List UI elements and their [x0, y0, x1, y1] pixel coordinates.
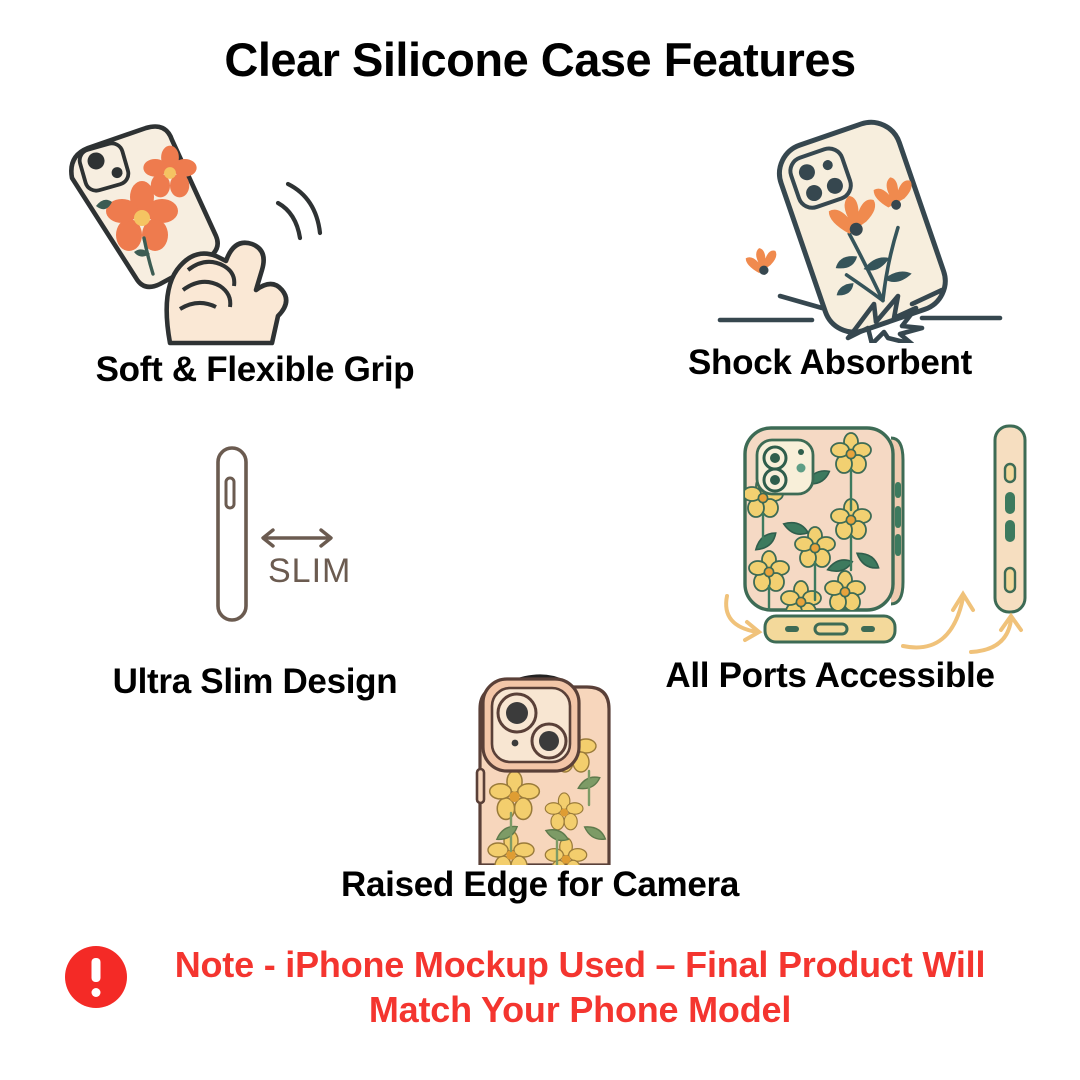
feature-label: Shock Absorbent — [600, 343, 1060, 383]
feature-shock-absorbent: Shock Absorbent — [600, 118, 1060, 408]
side-button-cutouts — [895, 482, 901, 556]
power-button-cutout — [1005, 568, 1015, 592]
page-title: Clear Silicone Case Features — [0, 34, 1080, 86]
volume-down-cutout — [1005, 520, 1015, 542]
raised-camera-edge-illustration — [305, 665, 775, 865]
width-arrow-icon — [263, 530, 331, 546]
feature-soft-flexible-grip: Soft & Flexible Grip — [20, 118, 490, 408]
ports-access-illustration — [705, 420, 1080, 655]
motion-arc-icon — [278, 184, 320, 238]
exclamation-dot — [92, 988, 101, 997]
phone-profile-shape — [218, 448, 246, 620]
side-edge-piece — [995, 426, 1025, 612]
feature-label: Soft & Flexible Grip — [20, 350, 490, 390]
slim-arrow-label: SLIM — [268, 552, 351, 590]
hand-holding-phone-illustration — [20, 118, 490, 348]
side-button-shape — [477, 769, 484, 803]
bottom-port-edge — [765, 616, 895, 642]
phone-case-shape — [477, 679, 609, 865]
mute-switch-cutout — [1005, 464, 1015, 482]
exclamation-circle-icon — [65, 946, 127, 1008]
feature-label: Raised Edge for Camera — [305, 865, 775, 905]
volume-up-cutout — [1005, 492, 1015, 514]
note-banner: Note - iPhone Mockup Used – Final Produc… — [0, 942, 1080, 1032]
flower-graphic — [744, 243, 782, 279]
exclamation-bar — [92, 958, 101, 982]
phone-side-profile-illustration: SLIM — [20, 430, 490, 650]
phone-case-shape — [743, 428, 901, 621]
feature-raised-edge-camera: Raised Edge for Camera — [305, 665, 775, 940]
phone-drop-impact-illustration — [660, 118, 1080, 343]
note-text: Note - iPhone Mockup Used – Final Produc… — [145, 942, 1015, 1032]
